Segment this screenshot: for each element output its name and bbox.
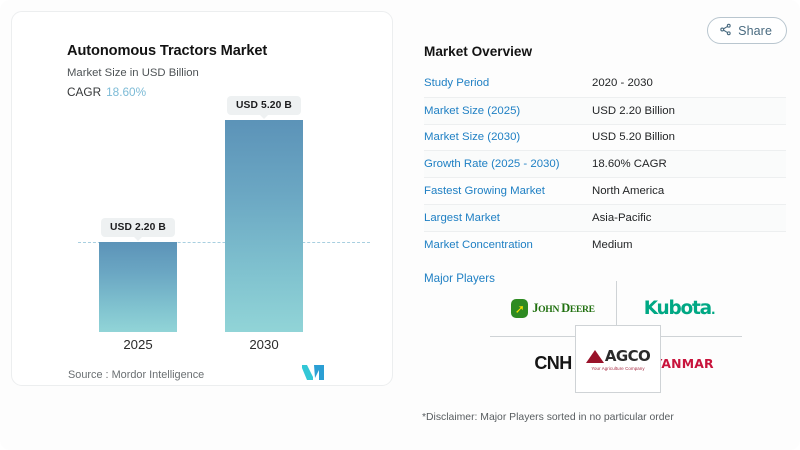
overview-row-growth-rate: Growth Rate (2025 - 2030) 18.60% CAGR — [424, 150, 786, 177]
row-value: North America — [592, 185, 664, 197]
overview-row-market-size-2030: Market Size (2030) USD 5.20 Billion — [424, 124, 786, 151]
kubota-wordmark: Kubota. — [644, 298, 715, 319]
source-prefix: Source : — [68, 369, 109, 381]
cnh-wordmark: CNH — [534, 353, 571, 374]
row-value: Medium — [592, 239, 633, 251]
share-button[interactable]: Share — [707, 17, 787, 44]
chart-subtitle: Market Size in USD Billion — [67, 67, 199, 79]
john-deere-wordmark: JOHN DEERE — [532, 301, 595, 316]
bar-2030[interactable] — [225, 120, 303, 332]
disclaimer-text: *Disclaimer: Major Players sorted in no … — [422, 412, 674, 423]
page-root: Share Autonomous Tractors Market Market … — [0, 0, 800, 450]
x-axis-label-2025: 2025 — [99, 337, 177, 352]
mordor-intelligence-logo — [302, 365, 324, 385]
overview-row-largest-market: Largest Market Asia-Pacific — [424, 204, 786, 231]
agco-wordmark: AGCO — [605, 347, 650, 365]
source-attribution: Source : Mordor Intelligence — [68, 369, 204, 381]
bar-chart-plot: USD 2.20 B USD 5.20 B — [12, 100, 370, 332]
row-value: 2020 - 2030 — [592, 77, 653, 89]
agco-tagline: Your Agriculture Company — [586, 366, 650, 371]
overview-row-market-concentration: Market Concentration Medium — [424, 231, 786, 258]
chart-title: Autonomous Tractors Market — [67, 43, 267, 59]
cagr-label: CAGR — [67, 85, 101, 99]
source-row: Source : Mordor Intelligence — [68, 365, 324, 385]
source-name: Mordor Intelligence — [112, 369, 205, 381]
overview-row-fastest-growing-market: Fastest Growing Market North America — [424, 177, 786, 204]
row-value: USD 5.20 Billion — [592, 131, 675, 143]
overview-row-study-period: Study Period 2020 - 2030 — [424, 70, 786, 97]
share-nodes-icon — [719, 23, 732, 39]
row-key: Market Size (2025) — [424, 105, 592, 117]
row-key: Growth Rate (2025 - 2030) — [424, 158, 592, 170]
yanmar-wordmark: YANMAR — [653, 356, 713, 371]
share-button-label: Share — [738, 24, 772, 38]
bar-2025[interactable] — [99, 242, 177, 332]
cagr-value: 18.60% — [106, 85, 146, 99]
x-axis-label-2030: 2030 — [225, 337, 303, 352]
cagr-annotation: CAGR 18.60% — [67, 85, 146, 99]
player-logo-agco: AGCO Your Agriculture Company — [575, 325, 661, 393]
row-key: Fastest Growing Market — [424, 185, 592, 197]
triangle-icon — [586, 350, 604, 363]
data-label-2025: USD 2.20 B — [101, 218, 175, 237]
row-key: Market Size (2030) — [424, 131, 592, 143]
row-key: Market Concentration — [424, 239, 592, 251]
market-overview-panel: Market Overview Study Period 2020 - 2030… — [424, 44, 786, 285]
row-key: Study Period — [424, 77, 592, 89]
data-label-2030: USD 5.20 B — [227, 96, 301, 115]
row-key: Largest Market — [424, 212, 592, 224]
deer-icon: ➚ — [511, 299, 528, 318]
overview-row-market-size-2025: Market Size (2025) USD 2.20 Billion — [424, 97, 786, 124]
overview-title: Market Overview — [424, 44, 786, 59]
row-value: USD 2.20 Billion — [592, 105, 675, 117]
row-value: Asia-Pacific — [592, 212, 652, 224]
row-value: 18.60% CAGR — [592, 158, 667, 170]
